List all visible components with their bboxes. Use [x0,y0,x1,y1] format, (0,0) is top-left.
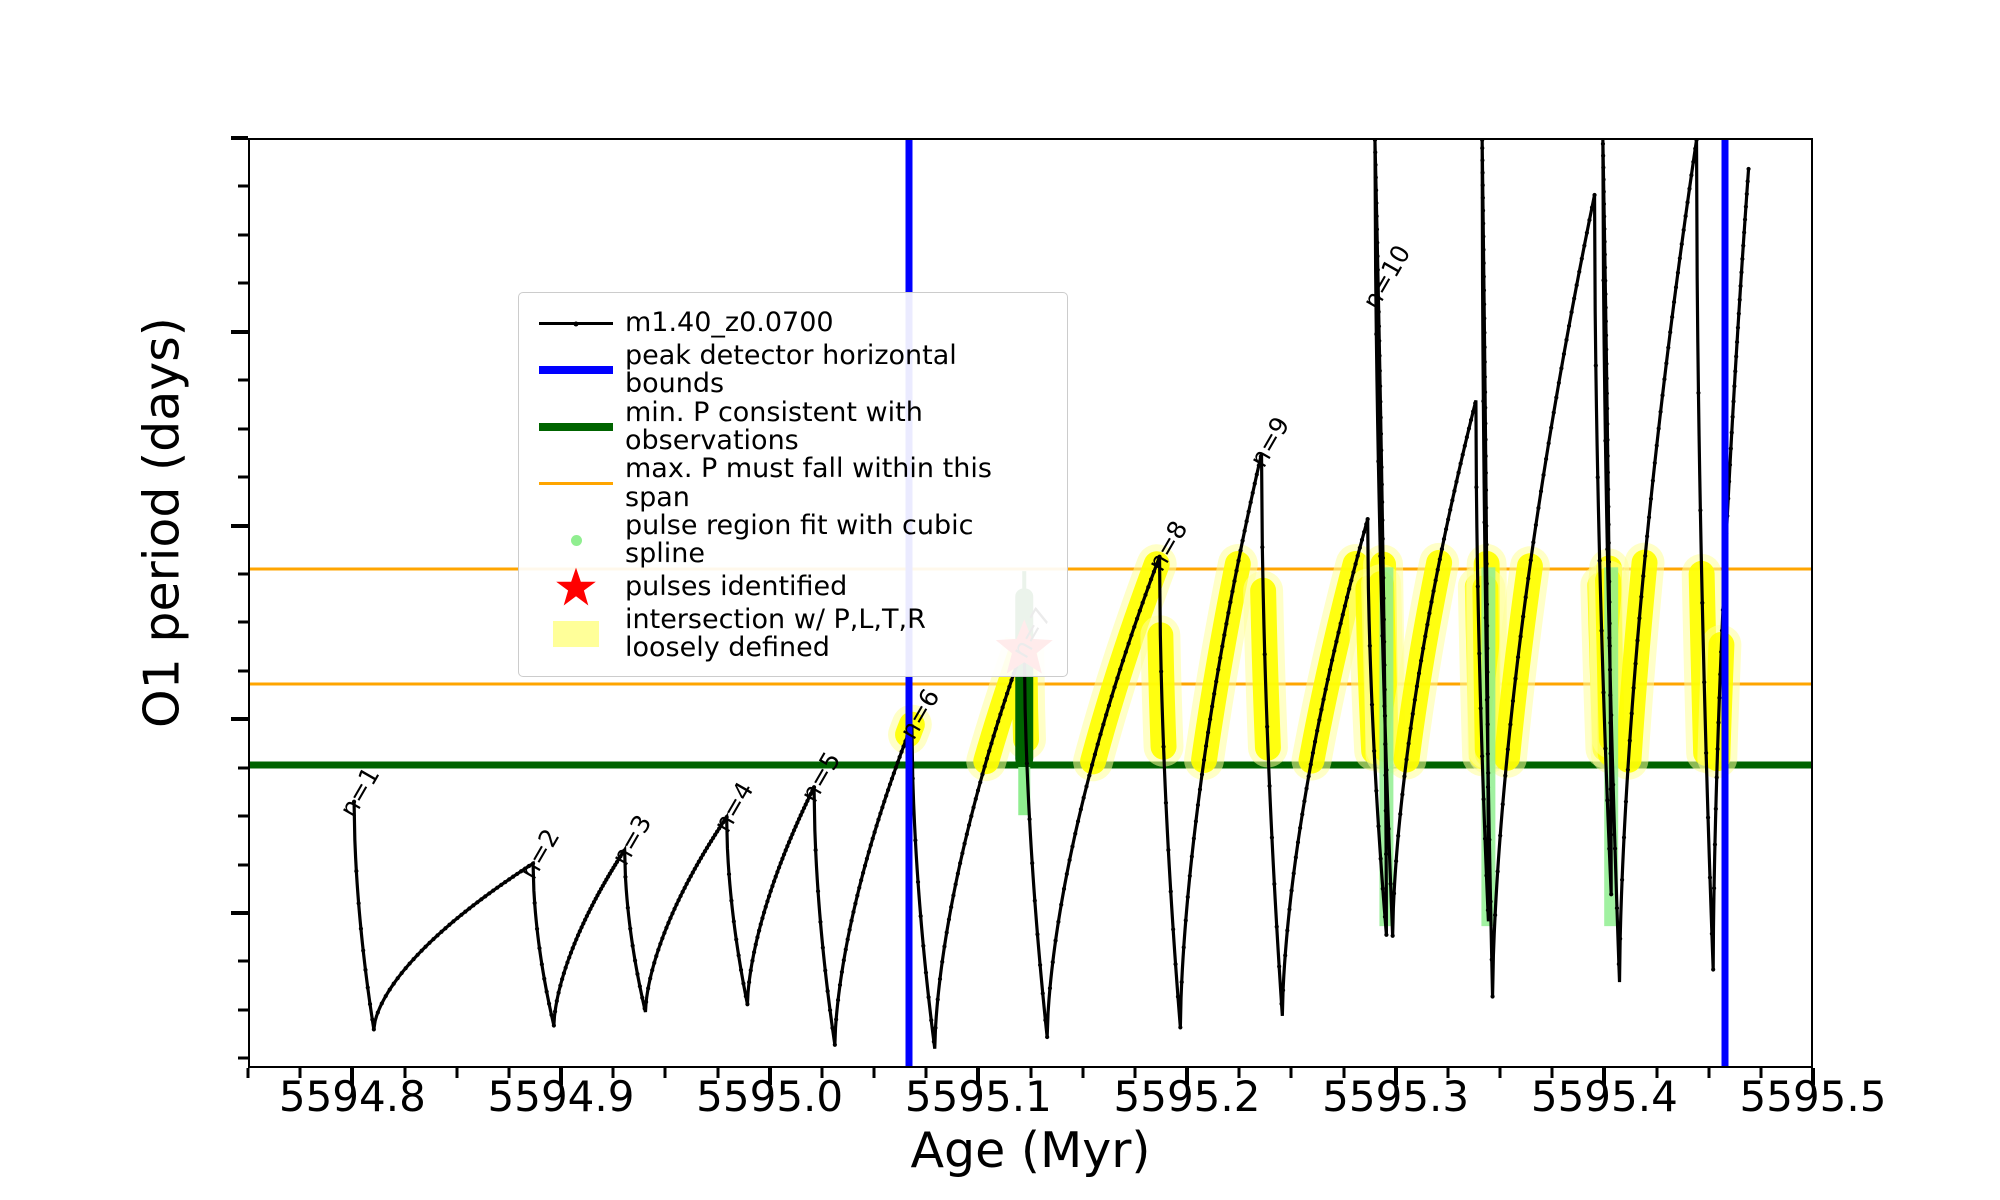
data-point [654,954,658,958]
data-point [670,911,674,915]
data-point [933,1026,937,1030]
data-point [1552,410,1556,414]
data-point [745,1002,749,1006]
data-point [1485,562,1489,566]
y-tick-minor [238,427,248,430]
data-point [976,788,980,792]
data-point [1481,248,1485,252]
data-point [853,902,857,906]
data-point [1379,465,1383,469]
data-point [681,890,685,894]
data-point [1498,834,1502,838]
data-point [732,919,736,923]
data-point [1620,878,1624,882]
data-point [1169,889,1173,893]
data-point [652,961,656,965]
data-point [1587,218,1591,222]
data-point [354,869,358,873]
data-point [635,972,639,976]
data-point [1544,457,1548,461]
data-point [423,945,427,949]
data-point [1413,698,1417,702]
data-point [1473,401,1477,405]
legend-label-peak-bounds: peak detector horizontal bounds [619,342,1053,399]
star-glyph [548,565,604,609]
data-point [1732,384,1736,388]
data-point [1536,506,1540,510]
data-point [1608,668,1612,672]
x-tick-minor [1238,1068,1241,1078]
data-point [1275,925,1279,929]
data-point [1676,271,1680,275]
data-point [855,894,859,898]
data-point [1364,522,1368,526]
data-point [861,871,865,875]
data-point [1628,739,1632,743]
data-point [1657,426,1661,430]
data-point [1486,879,1490,883]
data-point [1590,205,1594,209]
data-point [846,937,850,941]
x-tick-minor [299,1068,302,1078]
data-point [737,953,741,957]
data-point [1159,669,1163,673]
data-point [1334,640,1338,644]
data-point [1691,160,1695,164]
data-point [357,901,361,905]
data-point [553,1010,557,1014]
data-point [1745,192,1749,196]
data-point [420,949,424,953]
data-point [1541,473,1545,477]
data-point [1253,482,1257,486]
data-point [1476,584,1480,588]
data-point [1685,200,1689,204]
data-point [1618,937,1622,941]
data-point [491,888,495,892]
data-point [1440,547,1444,551]
y-tick-minor [238,621,248,624]
data-point [762,910,766,914]
data-point [818,920,822,924]
data-point [1382,640,1386,644]
data-point [1202,758,1206,762]
data-point [567,955,571,959]
data-point [1307,774,1311,778]
data-point [916,880,920,884]
data-point [1118,667,1122,671]
data-point [1601,142,1605,146]
data-point [1375,254,1379,258]
data-point [392,982,396,986]
x-tick-minor [873,1068,876,1078]
data-point [969,814,973,818]
data-point [1630,711,1634,715]
data-point [1655,443,1659,447]
data-point [687,878,691,882]
plot-area: n=1n=2n=3n=4n=5n=6n=7n=8n=9n=10 m1.40_z0… [248,138,1813,1068]
data-point [664,926,668,930]
data-point [1731,415,1735,419]
data-point [533,901,537,905]
data-point [1027,817,1031,821]
data-point [833,1043,837,1047]
data-point [359,927,363,931]
data-point [1300,812,1304,816]
data-point [1471,409,1475,413]
y-tick-minor [238,1057,248,1060]
data-point [828,1008,832,1012]
data-point [1716,721,1720,725]
data-point [878,811,882,815]
data-point [1731,399,1735,403]
data-point [1222,633,1226,637]
data-point [1501,802,1505,806]
data-point [1603,265,1607,269]
data-point [1459,462,1463,466]
data-point [1603,439,1607,443]
legend-item-peak-bounds[interactable]: peak detector horizontal bounds [533,342,1053,399]
data-point [363,968,367,972]
data-point [1196,803,1200,807]
data-point [1480,146,1484,150]
data-point [1485,670,1489,674]
data-point [1351,570,1355,574]
data-point [1442,537,1446,541]
data-point [1486,771,1490,775]
data-point [388,987,392,991]
data-point [1377,354,1381,358]
data-point [1272,882,1276,886]
data-point [1382,704,1386,708]
data-point [1396,834,1400,838]
data-point [1005,691,1009,695]
data-point [942,944,946,948]
data-point [1608,621,1612,625]
data-point [1474,485,1478,489]
data-point [1485,582,1489,586]
data-point [1599,629,1603,633]
data-point [1224,622,1228,626]
y-tick-major [231,330,248,334]
data-point [1624,800,1628,804]
legend-item-min-period[interactable]: min. P consistent with observations [533,399,1053,456]
data-point [1124,650,1128,654]
data-point [1339,621,1343,625]
data-point [1562,352,1566,356]
data-point [834,1017,838,1021]
data-point [1653,461,1657,465]
data-point [821,946,825,950]
data-point [1643,554,1647,558]
data-point [900,750,904,754]
data-point [1603,252,1607,256]
data-point [1483,375,1487,379]
x-tick-minor [925,1068,928,1078]
data-point [1529,558,1533,562]
data-point [1484,543,1488,547]
data-point [691,870,695,874]
y-axis-title: O1 period (days) [134,113,191,933]
legend-label-intersection-line1: intersection w/ P,L,T,R [625,604,926,635]
y-tick-minor [238,572,248,575]
data-point [1132,625,1136,629]
data-point [1360,538,1364,542]
data-point [623,875,627,879]
data-point [1605,376,1609,380]
data-point [956,872,960,876]
data-point [1251,491,1255,495]
y-tick-major [231,717,248,721]
data-point [951,893,955,897]
data-point [1604,319,1608,323]
data-point [958,861,962,865]
data-point [882,799,886,803]
data-point [873,830,877,834]
data-point [1068,858,1072,862]
data-point [1104,713,1108,717]
x-tick-major [559,1068,563,1085]
data-point [572,942,576,946]
legend-label-intersection-line2: loosely defined [625,632,830,663]
data-point [1368,644,1372,648]
data-point [668,916,672,920]
data-point [1609,787,1613,791]
data-point [587,910,591,914]
data-point [1603,240,1607,244]
data-point [1569,310,1573,314]
data-point [1484,616,1488,620]
data-point [962,842,966,846]
data-point [1382,663,1386,667]
data-point [1003,698,1007,702]
data-point [1602,214,1606,218]
data-point [1446,517,1450,521]
y-tick-minor [238,863,248,866]
data-point [1531,540,1535,544]
data-point [1740,257,1744,261]
data-point [1626,768,1630,772]
data-point [467,906,471,910]
data-point [770,884,774,888]
legend-label-max-period: max. P must fall within this span [619,455,1053,512]
data-point [1378,369,1382,373]
red-star-icon [533,570,619,604]
x-tick-minor [507,1068,510,1078]
data-point [1632,686,1636,690]
data-point [503,880,507,884]
data-point [1680,242,1684,246]
data-point [1247,510,1251,514]
data-point [1684,214,1688,218]
data-point [380,1001,384,1005]
data-point [741,981,745,985]
data-point [1186,895,1190,899]
data-point [1377,324,1381,328]
x-tick-minor [1342,1068,1345,1078]
data-point [1516,655,1520,659]
data-point [1737,312,1741,316]
data-point [774,874,778,878]
yellow-patch-icon [533,617,619,651]
data-point [1398,812,1402,816]
data-point [1378,384,1382,388]
data-point [876,818,880,822]
data-point [697,860,701,864]
data-point [1376,459,1380,463]
data-point [800,810,804,814]
x-tick-major [1811,1068,1815,1085]
data-point [1479,706,1483,710]
data-point [1739,284,1743,288]
data-point [693,867,697,871]
peak-detector-right-bound [1722,140,1729,1066]
data-point [384,994,388,998]
data-point [1742,230,1746,234]
data-point [1321,697,1325,701]
data-point [1380,518,1384,522]
data-point [1454,480,1458,484]
data-point [1486,908,1490,912]
data-point [1607,636,1611,640]
data-point [1486,722,1490,726]
data-point [1243,529,1247,533]
data-point [1200,772,1204,776]
data-point [507,877,511,881]
data-point [1087,773,1091,777]
data-point [1038,963,1042,967]
data-point [1121,659,1125,663]
data-point [1482,316,1486,320]
y-tick-minor [238,282,248,285]
data-point [1490,958,1494,962]
data-point [558,983,562,987]
data-point [1001,705,1005,709]
data-point [1602,227,1606,231]
legend-label-model: m1.40_z0.0700 [619,309,834,337]
data-point [836,998,840,1002]
data-point [463,910,467,914]
legend-item-model[interactable]: m1.40_z0.0700 [533,305,1053,342]
data-point [443,926,447,930]
data-point [404,966,408,970]
data-point [633,959,637,963]
data-point [1065,872,1069,876]
data-point [782,852,786,856]
data-point [511,875,515,879]
data-point [1711,967,1715,971]
data-point [1198,787,1202,791]
data-point [1485,602,1489,606]
data-point [562,971,566,975]
data-point [1450,498,1454,502]
data-point [495,886,499,890]
data-point [1682,228,1686,232]
data-point [1607,541,1611,545]
legend-item-intersection[interactable]: intersection w/ P,L,T,R loosely defined [533,606,1053,663]
data-point [1482,520,1486,524]
data-point [1358,546,1362,550]
data-point [1582,244,1586,248]
data-point [844,947,848,951]
data-point [1486,752,1490,756]
data-point [1171,927,1175,931]
legend-box[interactable]: m1.40_z0.0700 peak detector horizontal b… [518,292,1068,677]
data-point [1700,601,1704,605]
x-tick-minor [664,1068,667,1078]
data-point [790,832,794,836]
data-point [1484,454,1488,458]
green-dot-icon [533,523,619,557]
data-point [1554,396,1558,400]
data-point [727,872,731,876]
data-point [1482,302,1486,306]
data-point [799,813,803,817]
y-tick-minor [238,379,248,382]
data-point [1161,745,1165,749]
data-point [1633,662,1637,666]
data-point [545,990,549,994]
data-point [929,1018,933,1022]
data-point [643,1006,647,1010]
x-tick-minor [1655,1068,1658,1078]
data-point [994,727,998,731]
data-point [1605,547,1609,551]
data-point [1736,326,1740,330]
legend-item-spline-fit[interactable]: pulse region fit with cubic spline [533,512,1053,569]
data-point [1070,844,1074,848]
data-point [1374,175,1378,179]
data-point [1375,227,1379,231]
data-point [416,953,420,957]
data-point [1260,545,1264,549]
data-point [1380,500,1384,504]
data-point [549,1013,553,1017]
line-marker-icon [533,307,619,341]
data-point [1045,1035,1049,1039]
data-point [475,900,479,904]
data-point [555,999,559,1003]
data-point [789,836,793,840]
data-point [1698,508,1702,512]
data-point [1315,729,1319,733]
data-point [1378,554,1382,558]
data-point [459,913,463,917]
data-point [823,968,827,972]
data-point [683,886,687,890]
data-point [1564,338,1568,342]
data-point [1483,438,1487,442]
x-tick-minor [1133,1068,1136,1078]
data-point [1469,418,1473,422]
data-point [685,882,689,886]
data-point [1152,570,1156,574]
data-point [1601,690,1605,694]
data-point [1374,789,1378,793]
data-point [537,946,541,950]
legend-item-max-period[interactable]: max. P must fall within this span [533,455,1053,512]
data-point [744,994,748,998]
data-point [1484,873,1488,877]
data-point [1373,163,1377,167]
data-point [759,922,763,926]
data-point [400,971,404,975]
data-point [1417,671,1421,675]
legend-item-pulses[interactable]: pulses identified [533,569,1053,606]
data-point [1427,611,1431,615]
data-point [1746,179,1750,183]
data-point [734,937,738,941]
